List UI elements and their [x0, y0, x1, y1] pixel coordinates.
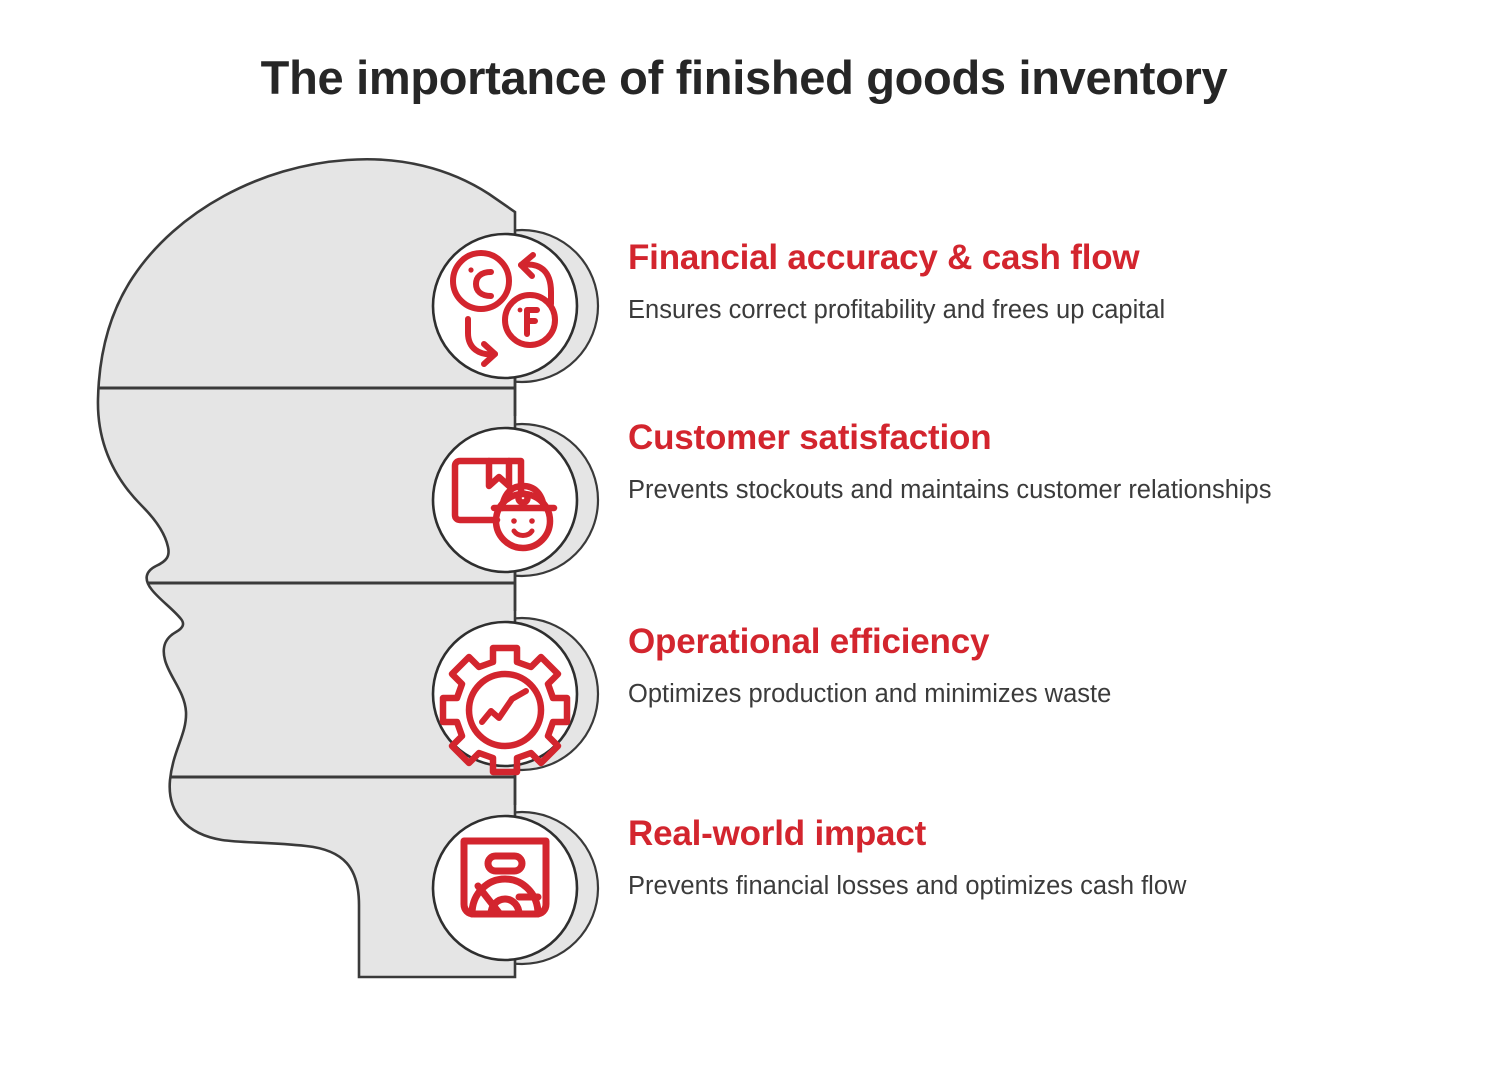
list-item-customer-satisfaction: Customer satisfaction Prevents stockouts…: [628, 418, 1348, 507]
icon-collar-rings: [446, 230, 598, 964]
item-heading: Financial accuracy & cash flow: [628, 238, 1348, 278]
item-heading: Real-world impact: [628, 814, 1348, 854]
icon-circle-3: [433, 622, 577, 772]
item-body: Prevents stockouts and maintains custome…: [628, 474, 1288, 507]
gear-trend-line-icon: [443, 648, 567, 772]
infographic-page: The importance of finished goods invento…: [0, 0, 1488, 1076]
temperature-conversion-celsius-fahrenheit-icon: [453, 253, 555, 364]
list-item-financial-accuracy: Financial accuracy & cash flow Ensures c…: [628, 238, 1348, 327]
item-heading: Customer satisfaction: [628, 418, 1348, 458]
head-diagram: [0, 0, 1488, 1076]
package-box-delivery-person-icon: [455, 461, 554, 548]
item-body: Prevents financial losses and optimizes …: [628, 870, 1288, 903]
list-item-operational-efficiency: Operational efficiency Optimizes product…: [628, 622, 1348, 711]
item-body: Ensures correct profitability and frees …: [628, 294, 1288, 327]
shopping-bag-warehouse-icon: [464, 841, 546, 914]
head-silhouette: [98, 159, 515, 977]
list-item-real-world-impact: Real-world impact Prevents financial los…: [628, 814, 1348, 903]
icon-circle-background-3: [433, 622, 577, 766]
item-body: Optimizes production and minimizes waste: [628, 678, 1288, 711]
icon-circle-background-1: [433, 234, 577, 378]
icon-circle-1: [433, 234, 577, 378]
segment-dividers: [90, 388, 520, 777]
item-heading: Operational efficiency: [628, 622, 1348, 662]
icon-circle-4: [433, 816, 577, 960]
icon-circle-2: [433, 428, 577, 572]
page-title: The importance of finished goods invento…: [0, 52, 1488, 104]
icon-circle-background-2: [433, 428, 577, 572]
icon-circle-background-4: [433, 816, 577, 960]
